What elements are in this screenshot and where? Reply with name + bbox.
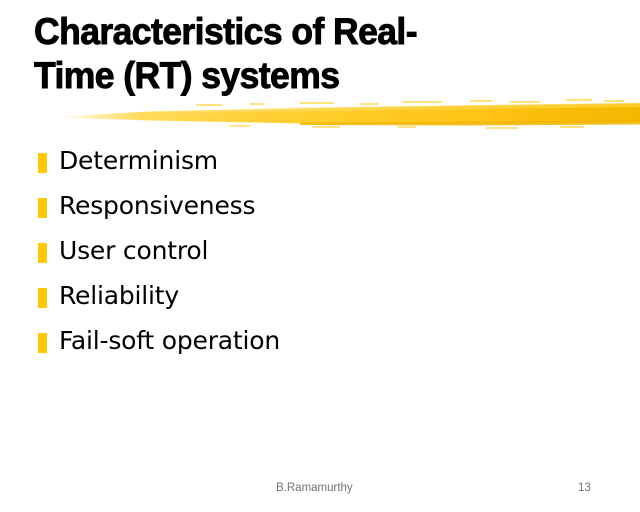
bullet-marker-icon [38,243,47,263]
bullet-item-label: Reliability [59,280,179,312]
slide-title-line-1: Characteristics of Real- [34,10,591,54]
brush-stroke-highlight [120,103,640,114]
brush-stroke-icon [0,92,640,138]
brush-stroke-body [58,104,640,124]
bullet-item-label: Determinism [59,145,218,177]
slide-footer: B.Ramamurthy 13 [0,480,640,500]
bullet-item-label: User control [59,235,208,267]
brush-stroke-lower-edge [300,120,640,126]
bullet-marker-icon [38,288,47,308]
slide-canvas: Characteristics of Real- Time (RT) syste… [0,0,640,512]
bullet-list: Determinism Responsiveness User control … [38,145,598,370]
bullet-item-fail-soft-operation: Fail-soft operation [38,325,598,370]
bullet-item-label: Responsiveness [59,190,255,222]
bullet-item-determinism: Determinism [38,145,598,190]
bullet-marker-icon [38,153,47,173]
footer-page-number: 13 [578,480,591,496]
bullet-item-user-control: User control [38,235,598,280]
brush-stroke-lower-flecks [230,125,584,129]
slide-title-line-2: Time (RT) systems [34,54,591,98]
footer-author: B.Ramamurthy [276,480,353,496]
bullet-item-label: Fail-soft operation [59,325,280,357]
bullet-marker-icon [38,198,47,218]
slide-title: Characteristics of Real- Time (RT) syste… [34,10,614,98]
bullet-marker-icon [38,333,47,353]
brush-stroke-decoration [0,92,640,138]
brush-stroke-flecks [196,99,624,106]
bullet-item-responsiveness: Responsiveness [38,190,598,235]
bullet-item-reliability: Reliability [38,280,598,325]
